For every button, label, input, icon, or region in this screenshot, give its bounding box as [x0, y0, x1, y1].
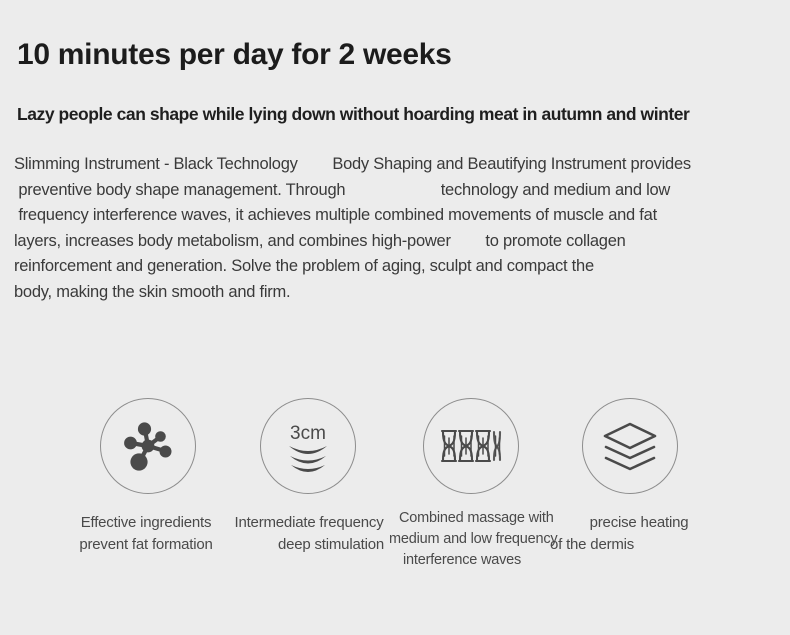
feature-caption: Intermediate frequency deep stimulation — [222, 512, 396, 556]
feature-caption-line: medium and low frequency — [389, 529, 559, 550]
feature-caption-line: precise heating — [546, 512, 718, 534]
page-subtitle: Lazy people can shape while lying down w… — [17, 104, 689, 125]
feature-caption-line: of the dermis — [546, 534, 718, 556]
dna-helix-icon — [438, 424, 504, 468]
page-title: 10 minutes per day for 2 weeks — [17, 38, 452, 72]
feature-item-combined-massage: Combined massage with medium and low fre… — [383, 392, 559, 571]
feature-item-precise-heating: precise heating of the dermis — [542, 392, 718, 556]
feature-caption-line: deep stimulation — [222, 534, 396, 556]
feature-caption-line: Combined massage with — [389, 508, 559, 529]
body-line: Slimming Instrument - Black Technology B… — [14, 152, 784, 178]
body-line: layers, increases body metabolism, and c… — [14, 229, 784, 255]
feature-caption: Combined massage with medium and low fre… — [389, 508, 559, 571]
feature-caption-line: prevent fat formation — [56, 534, 236, 556]
svg-text:3cm: 3cm — [290, 423, 326, 444]
molecule-icon — [117, 415, 179, 477]
feature-caption-line: Intermediate frequency — [222, 512, 396, 534]
feature-caption-line: interference waves — [389, 550, 559, 571]
feature-icon-circle: 3cm — [260, 398, 356, 494]
body-paragraph: Slimming Instrument - Black Technology B… — [14, 152, 784, 305]
feature-caption-line: Effective ingredients — [56, 512, 236, 534]
body-line: frequency interference waves, it achieve… — [14, 203, 784, 229]
layers-icon — [601, 420, 659, 472]
feature-icon-circle — [582, 398, 678, 494]
feature-caption: precise heating of the dermis — [546, 512, 718, 556]
product-description-panel: 10 minutes per day for 2 weeks Lazy peop… — [0, 0, 790, 635]
feature-icon-circle — [423, 398, 519, 494]
feature-icon-circle — [100, 398, 196, 494]
feature-item-intermediate-frequency: 3cm Intermediate frequency deep stimulat… — [220, 392, 396, 556]
feature-list: Effective ingredients prevent fat format… — [0, 392, 790, 592]
feature-item-effective-ingredients: Effective ingredients prevent fat format… — [60, 392, 236, 556]
body-line: reinforcement and generation. Solve the … — [14, 254, 784, 280]
body-line: preventive body shape management. Throug… — [14, 178, 784, 204]
body-line: body, making the skin smooth and firm. — [14, 280, 784, 306]
depth-waves-icon: 3cm — [276, 415, 340, 477]
feature-caption: Effective ingredients prevent fat format… — [56, 512, 236, 556]
